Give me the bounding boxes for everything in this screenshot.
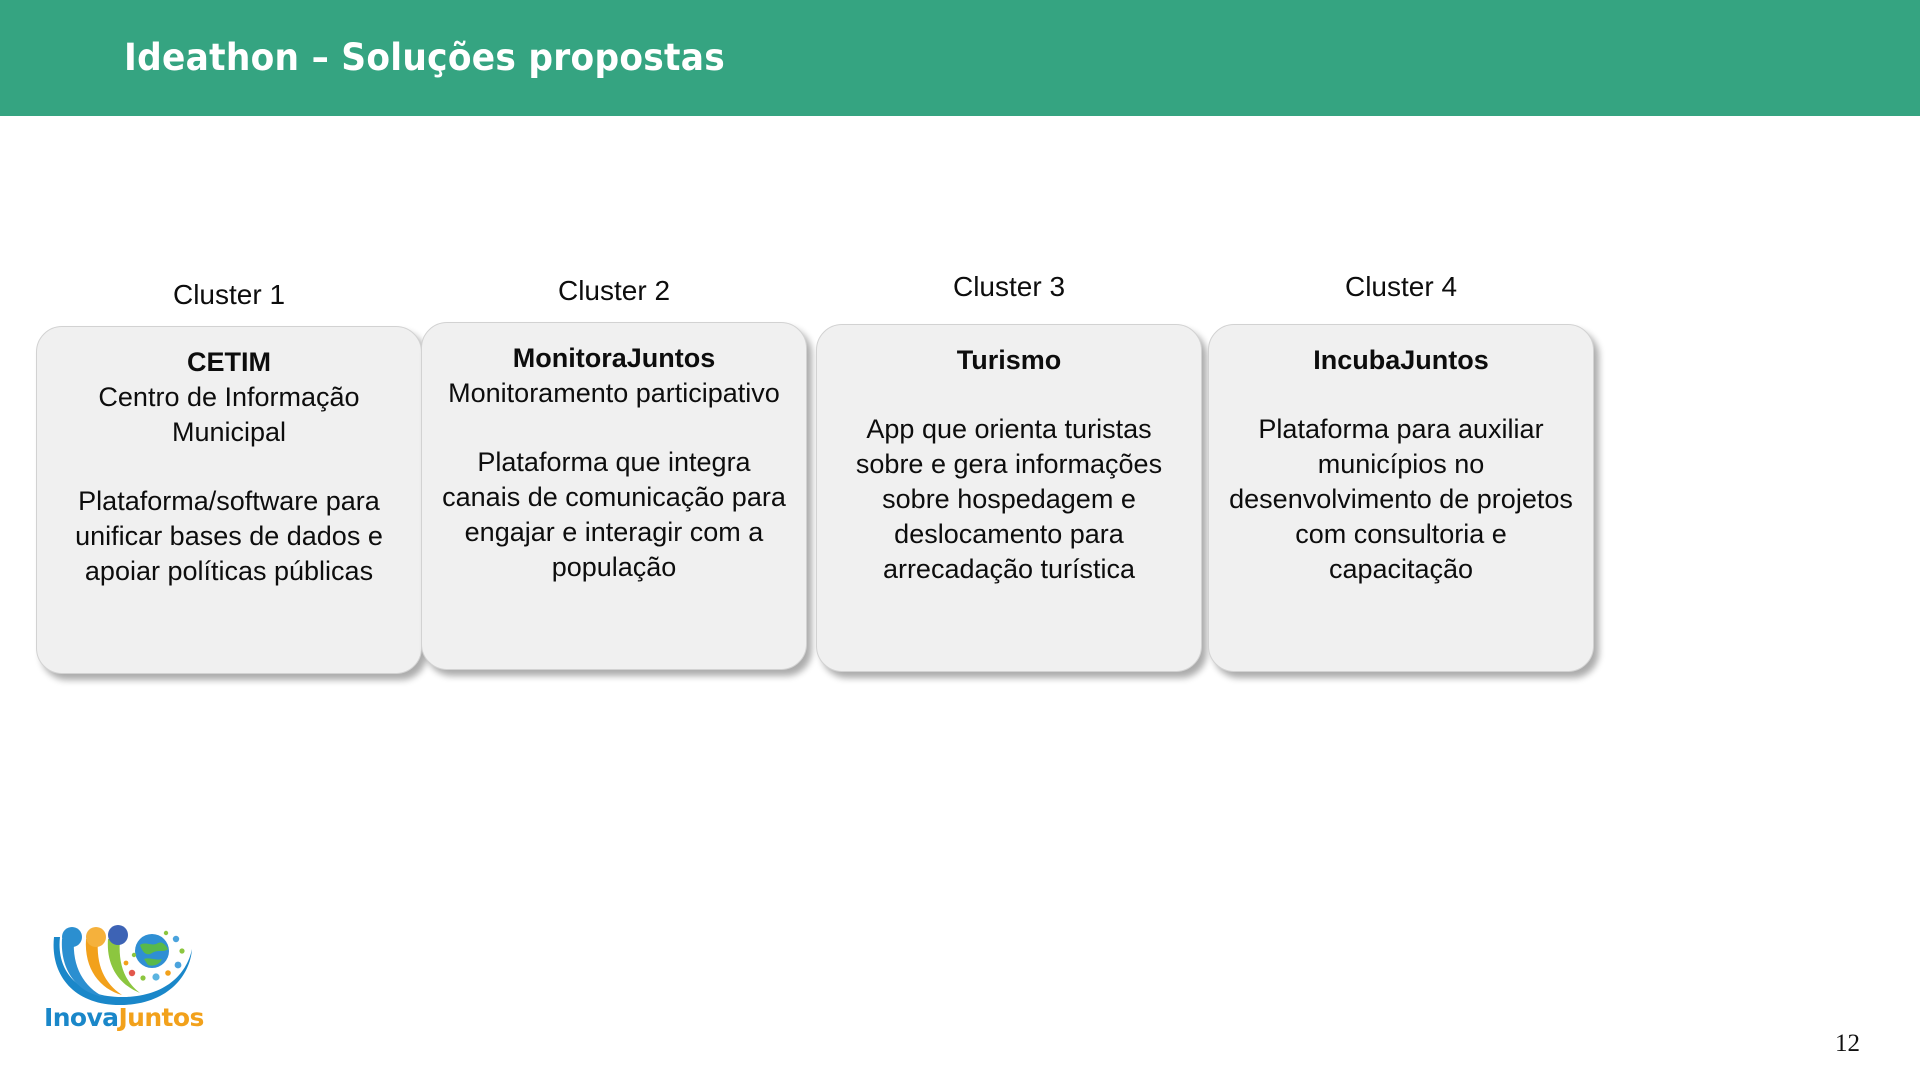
logo-word-inova: Inova [44, 1003, 118, 1032]
card-title-3: Turismo [833, 343, 1185, 378]
card-body-3: App que orienta turistas sobre e gera in… [833, 412, 1185, 587]
cluster-column-2: Cluster 2 MonitoraJuntos Monitoramento p… [421, 274, 807, 670]
card-spacer-1 [53, 450, 405, 484]
cluster-label-1: Cluster 1 [36, 278, 422, 312]
cluster-label-3: Cluster 3 [816, 270, 1202, 304]
cluster-label-2: Cluster 2 [421, 274, 807, 308]
card-title-1: CETIM [53, 345, 405, 380]
page-title: Ideathon – Soluções propostas [124, 36, 725, 79]
slide: Ideathon – Soluções propostas Cluster 1 … [0, 0, 1920, 1080]
logo-wordmark: InovaJuntos [44, 1003, 200, 1032]
cluster-column-4: Cluster 4 IncubaJuntos Plataforma para a… [1208, 270, 1594, 672]
card-body-2: Plataforma que integra canais de comunic… [438, 445, 790, 585]
card-spacer-3 [833, 378, 1185, 412]
solution-card-1[interactable]: CETIM Centro de Informação Municipal Pla… [36, 326, 422, 674]
logo-word-juntos: Juntos [118, 1003, 203, 1032]
cluster-column-1: Cluster 1 CETIM Centro de Informação Mun… [36, 278, 422, 674]
solution-card-2[interactable]: MonitoraJuntos Monitoramento participati… [421, 322, 807, 670]
card-spacer-2 [438, 411, 790, 445]
card-subtitle-2: Monitoramento participativo [438, 376, 790, 411]
card-spacer-4 [1225, 378, 1577, 412]
logo-mark-icon [48, 915, 196, 1007]
card-subtitle-1: Centro de Informação Municipal [53, 380, 405, 450]
card-body-1: Plataforma/software para unificar bases … [53, 484, 405, 589]
card-title-4: IncubaJuntos [1225, 343, 1577, 378]
card-title-2: MonitoraJuntos [438, 341, 790, 376]
cluster-label-4: Cluster 4 [1208, 270, 1594, 304]
card-body-4: Plataforma para auxiliar municípios no d… [1225, 412, 1577, 587]
solution-card-3[interactable]: Turismo App que orienta turistas sobre e… [816, 324, 1202, 672]
page-number: 12 [1835, 1030, 1860, 1058]
inovajuntos-logo: InovaJuntos [40, 915, 200, 1040]
solution-card-4[interactable]: IncubaJuntos Plataforma para auxiliar mu… [1208, 324, 1594, 672]
cluster-column-3: Cluster 3 Turismo App que orienta turist… [816, 270, 1202, 672]
cluster-grid: Cluster 1 CETIM Centro de Informação Mun… [0, 270, 1920, 790]
